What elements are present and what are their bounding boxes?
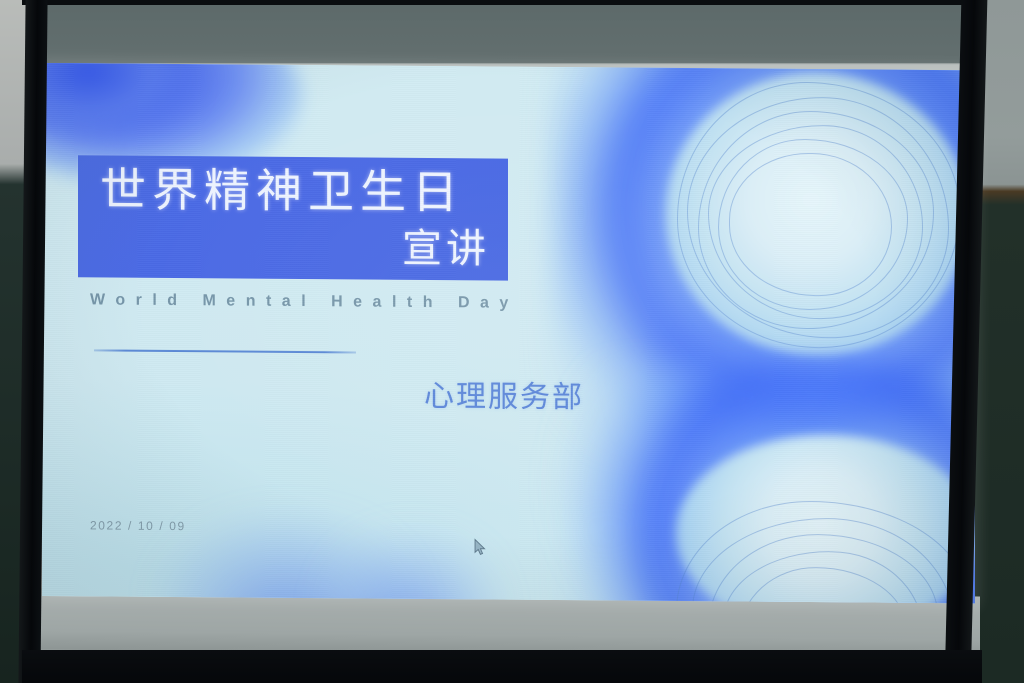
department-label: 心理服务部 [424,371,584,416]
slide-subtitle-chinese: 宣讲 [402,216,490,275]
mouse-pointer-icon [474,538,487,556]
divider-rule [94,349,356,353]
cursor-arrow-svg [474,538,487,556]
slide-subtitle-english: World Mental Health Day [90,291,519,312]
projected-slide[interactable]: 世界精神卫生日 宣讲 World Mental Health Day 心理服务部… [42,63,975,603]
screen-frame-bottom [22,650,982,683]
screen-frame-top [22,0,977,5]
slide-date: 2022 / 10 / 09 [90,518,186,533]
slide-title-chinese: 世界精神卫生日 [100,163,464,219]
screen-unlit-top-band [38,5,963,63]
title-banner: 世界精神卫生日 宣讲 [78,155,508,280]
slide-content: 世界精神卫生日 宣讲 World Mental Health Day 心理服务部… [42,63,975,603]
projector-photo: 世界精神卫生日 宣讲 World Mental Health Day 心理服务部… [0,0,1024,683]
